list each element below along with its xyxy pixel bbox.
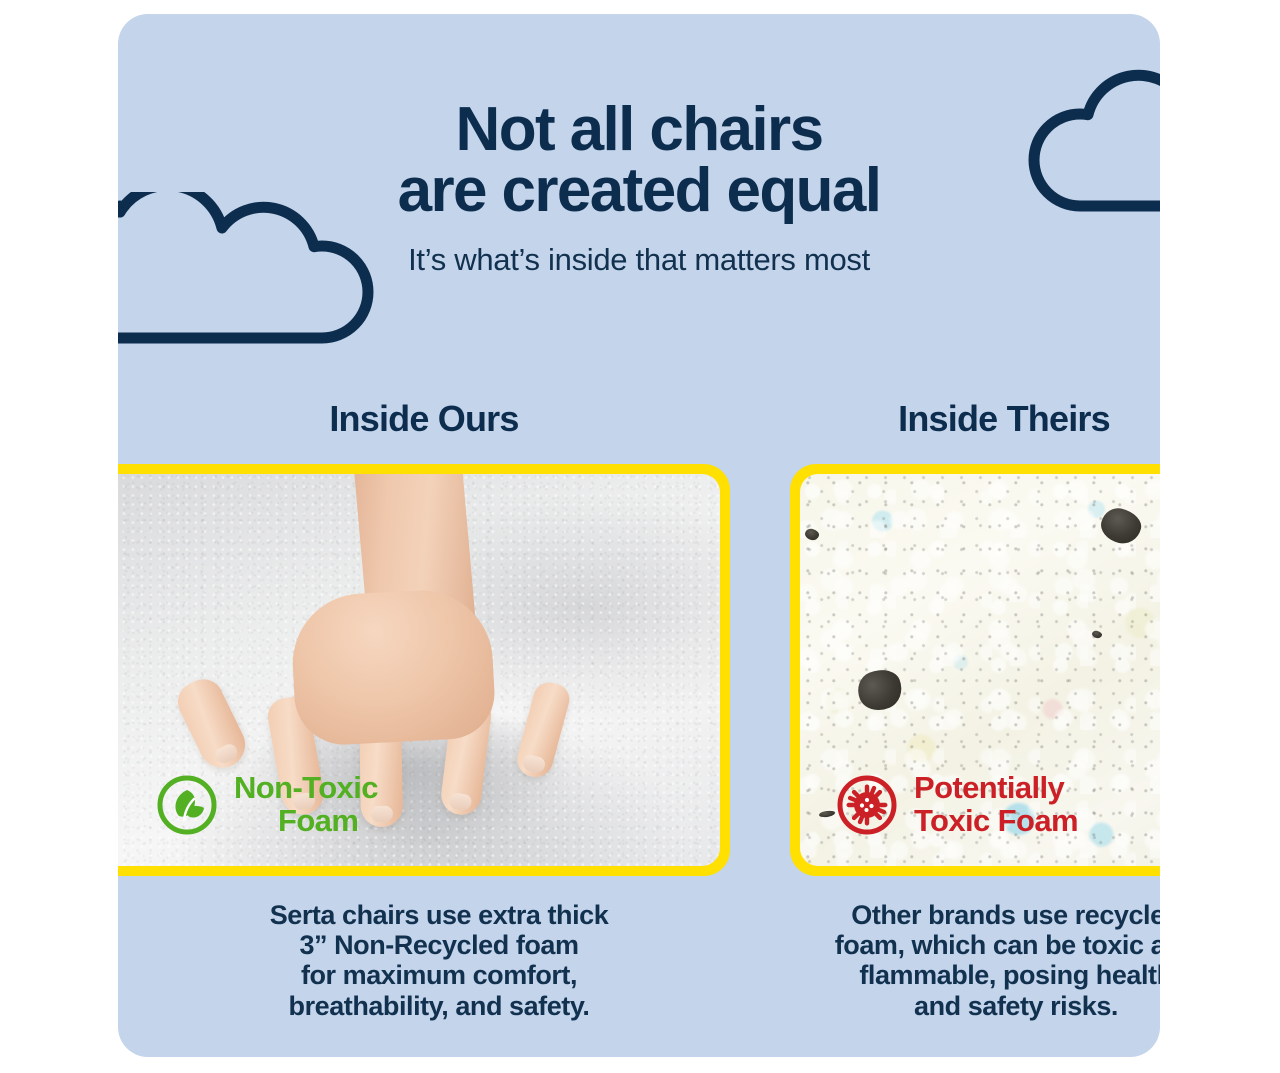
column-title-theirs: Inside Theirs [730, 398, 1160, 440]
page-subtitle: It’s what’s inside that matters most [118, 242, 1160, 278]
caption-line: 3” Non-Recycled foam [148, 930, 730, 960]
caption-theirs: Other brands use recycled foam, which ca… [766, 900, 1160, 1021]
comparison-card-ours: Non-Toxic Foam [118, 464, 730, 876]
hazard-pathogen-icon [836, 774, 898, 836]
page-title: Not all chairs are created equal [118, 100, 1160, 222]
foam-photo-theirs: Potentially Toxic Foam [800, 474, 1160, 866]
header-block: Not all chairs are created equal It’s wh… [118, 14, 1160, 278]
caption-ours: Serta chairs use extra thick 3” Non-Recy… [148, 900, 730, 1021]
caption-line: flammable, posing health [766, 960, 1160, 990]
caption-line: foam, which can be toxic and [766, 930, 1160, 960]
comparison-panel: Not all chairs are created equal It’s wh… [118, 14, 1160, 1057]
caption-line: Serta chairs use extra thick [148, 900, 730, 930]
badge-line-1: Potentially [914, 772, 1078, 805]
caption-line: and safety risks. [766, 991, 1160, 1021]
badge-non-toxic-foam: Non-Toxic Foam [156, 772, 378, 838]
badge-label-potentially-toxic: Potentially Toxic Foam [914, 772, 1078, 838]
badge-line-1: Non-Toxic [234, 772, 378, 805]
badge-potentially-toxic-foam: Potentially Toxic Foam [836, 772, 1078, 838]
hand-palm [289, 586, 497, 746]
caption-line: for maximum comfort, [148, 960, 730, 990]
badge-line-2: Foam [234, 805, 378, 838]
caption-line: Other brands use recycled [766, 900, 1160, 930]
comparison-card-theirs: Potentially Toxic Foam [790, 464, 1160, 876]
badge-label-non-toxic: Non-Toxic Foam [234, 772, 378, 838]
headline-line-2: are created equal [118, 161, 1160, 222]
caption-line: breathability, and safety. [148, 991, 730, 1021]
badge-line-2: Toxic Foam [914, 805, 1078, 838]
column-title-ours: Inside Ours [118, 398, 730, 440]
infographic-canvas: Not all chairs are created equal It’s wh… [0, 0, 1280, 1073]
foam-photo-ours: Non-Toxic Foam [118, 474, 720, 866]
headline-line-1: Not all chairs [456, 95, 823, 164]
leaf-icon [156, 774, 218, 836]
